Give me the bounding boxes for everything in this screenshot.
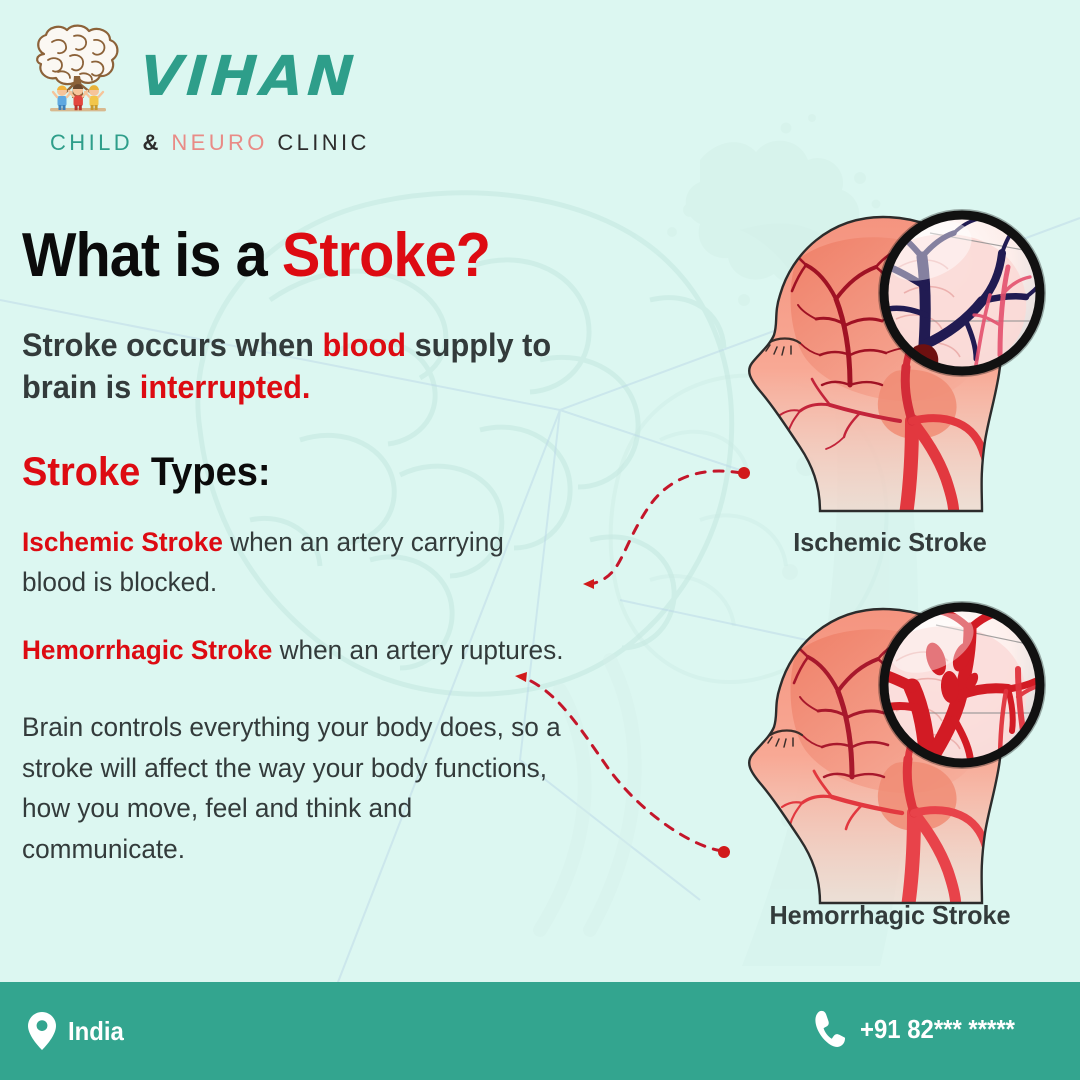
- caption-ischemic-stroke: Ischemic Stroke: [706, 527, 1075, 558]
- head-profile-hemorrhagic-stroke-illustration: [700, 585, 1080, 940]
- page-title: What is a Stroke?: [22, 225, 580, 287]
- footer-phone-number: +91 82*** *****: [860, 1014, 1015, 1045]
- types-heading-plain: Types:: [140, 450, 270, 494]
- type-item-ischemic: Ischemic Stroke when an artery carrying …: [22, 523, 575, 603]
- intro-paragraph: Stroke occurs when blood supply to brain…: [22, 324, 598, 408]
- footer-location-label: India: [68, 1016, 124, 1047]
- footer-phone-group[interactable]: +91 82*** *****: [812, 1010, 1028, 1048]
- head-profile-ischemic-stroke-illustration: [700, 195, 1080, 555]
- footer-bar: India +91 82*** *****: [0, 982, 1080, 1080]
- intro-emphasis-interrupted: interrupted.: [140, 369, 311, 405]
- type-term-hemorrhagic: Hemorrhagic Stroke: [22, 635, 272, 665]
- tagline-clinic: CLINIC: [277, 130, 370, 155]
- types-heading-accent: Stroke: [22, 450, 140, 494]
- brand-logo[interactable]: VIHAN CHILD & NEURO CLINIC: [22, 22, 352, 142]
- content-column: What is a Stroke? Stroke occurs when blo…: [22, 225, 622, 869]
- caption-hemorrhagic-stroke: Hemorrhagic Stroke: [686, 900, 1080, 931]
- type-desc-hemorrhagic: when an artery ruptures.: [272, 635, 563, 665]
- logo-tagline: CHILD & NEURO CLINIC: [50, 130, 370, 156]
- footer-location-group[interactable]: India: [28, 1012, 129, 1050]
- intro-emphasis-blood: blood: [322, 327, 406, 363]
- tagline-neuro: NEURO: [171, 130, 267, 155]
- brain-tree-with-children-icon: [22, 22, 134, 120]
- tagline-child: CHILD: [50, 130, 133, 155]
- types-heading: Stroke Types:: [22, 450, 592, 495]
- type-term-ischemic: Ischemic Stroke: [22, 527, 223, 557]
- tagline-amp: &: [143, 130, 162, 155]
- logo-wordmark: VIHAN: [138, 44, 360, 108]
- map-pin-icon: [28, 1012, 56, 1050]
- type-item-hemorrhagic: Hemorrhagic Stroke when an artery ruptur…: [22, 631, 575, 671]
- phone-icon: [812, 1010, 846, 1048]
- headline-accent: Stroke?: [282, 221, 490, 290]
- closing-paragraph: Brain controls everything your body does…: [22, 707, 580, 869]
- intro-part1: Stroke occurs when: [22, 327, 322, 363]
- headline-plain: What is a: [22, 221, 282, 290]
